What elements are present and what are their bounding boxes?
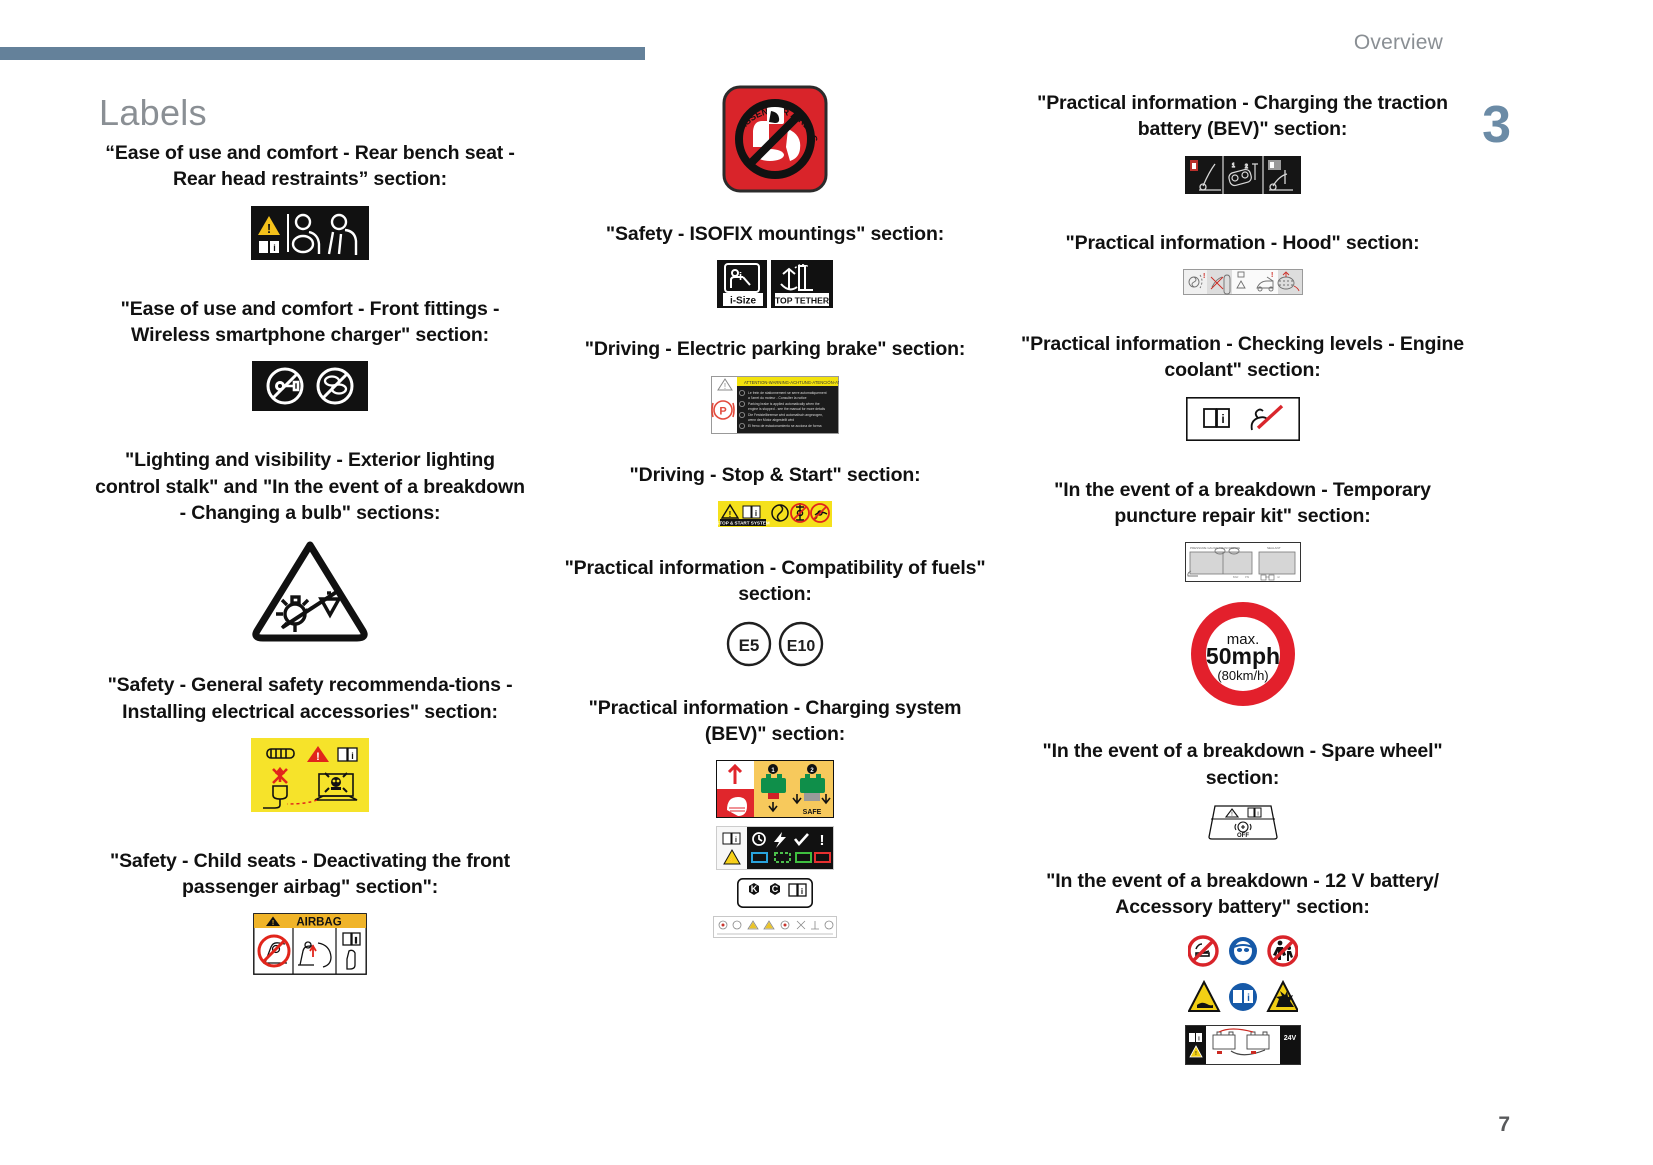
bev-plate-4 [560,916,990,938]
manual-book-blue-icon: i [1229,983,1257,1011]
svg-text:SEALANT: SEALANT [1267,546,1281,550]
svg-text:El freno de estacionamiento se: El freno de estacionamiento se acciona d… [748,424,822,428]
svg-text:Parking brake is applied autom: Parking brake is applied automatically w… [748,402,820,406]
passenger-airbag-label: ! AIRBAG [95,913,525,975]
header-accent-bar [0,47,645,60]
svg-text:a l'arret du moteur - Consulte: a l'arret du moteur - Consulter la notic… [748,396,807,400]
chapter-number: 3 [1482,95,1510,155]
electric-parking-brake-label: ! ATTENTION-WARNING-ACHTUNG-ATENCIÓN-ATT… [560,376,990,434]
page-title: Labels [99,92,207,134]
svg-text:STOP & START SYSTEM: STOP & START SYSTEM [718,521,770,526]
bev-plate-1: 1 2 [560,760,990,818]
bulb-warning-triangle-label [95,539,525,644]
rear-head-restraint-label: ! i [95,206,525,260]
caption: "Practical information - Checking levels… [1020,331,1465,384]
svg-text:i: i [355,938,357,945]
svg-text:K: K [751,884,758,894]
svg-text:i: i [351,751,354,761]
svg-text:ATTENTION-WARNING-ACHTUNG-ATEN: ATTENTION-WARNING-ACHTUNG-ATENCIÓN-ATTEN… [744,380,839,385]
puncture-repair-kit-label: PRESSURE GAUGE / MANOMETRE SEALANT BARPS… [1020,542,1465,582]
label-entry-rear-head-restraints: “Ease of use and comfort - Rear bench se… [95,140,525,260]
svg-text:!: ! [729,510,732,519]
caption: "Ease of use and comfort - Front fitting… [95,296,525,349]
label-entry-passenger-airbag: "Safety - Child seats - Deactivating the… [95,848,525,976]
svg-text:24V: 24V [1283,1035,1296,1042]
svg-text:1: 1 [1232,163,1235,169]
hood-label: ! [1020,269,1465,295]
svg-text:⚡: ⚡ [728,856,735,864]
svg-text:TOP TETHER: TOP TETHER [775,296,830,306]
traction-battery-charging-label: 1 2 [1020,156,1465,194]
svg-text:SAFE: SAFE [803,809,822,816]
label-entry-wireless-charger: "Ease of use and comfort - Front fitting… [95,296,525,412]
eye-protection-icon [1229,937,1257,965]
svg-text:!: ! [267,221,271,236]
column-mid: PASSENGER AIRBAG "S [560,85,990,944]
svg-text:i-Size: i-Size [730,296,757,307]
svg-text:!: ! [724,382,726,391]
spare-wheel-label: ! i OFF [1020,804,1465,840]
svg-text:E5: E5 [739,636,760,655]
svg-text:wenn der Motor abgestellt wird: wenn der Motor abgestellt wird [748,418,794,422]
svg-text:!: ! [316,751,320,763]
label-entry-fuel-compatibility: "Practical information - Compatibility o… [560,555,990,667]
label-entry-battery-12v: "In the event of a breakdown - 12 V batt… [1020,868,1465,1066]
label-entry-electrical-accessories: "Safety - General safety recommenda-tion… [95,672,525,812]
svg-text:BAR: BAR [1233,575,1238,579]
svg-text:i: i [1221,412,1224,426]
fuel-compatibility-label: E5 E10 [560,621,990,667]
svg-text:!: ! [1203,273,1205,280]
caption: "Safety - Child seats - Deactivating the… [95,848,525,901]
label-entry-isofix: "Safety - ISOFIX mountings" section: i i… [560,221,990,308]
explosion-warning-icon [1268,982,1298,1011]
label-entry-hood: "Practical information - Hood" section: … [1020,230,1465,295]
caption: “Ease of use and comfort - Rear bench se… [95,140,525,193]
label-entry-bulb-change: "Lighting and visibility - Exterior ligh… [95,447,525,644]
caption: "Driving - Electric parking brake" secti… [560,336,990,362]
svg-text:ml: ml [1277,575,1280,579]
svg-text:PSI: PSI [1245,575,1249,579]
label-entry-passenger-airbag-sticker: PASSENGER AIRBAG [560,85,990,193]
passenger-airbag-round-sticker: PASSENGER AIRBAG [560,85,990,193]
caption: "Practical information - Charging system… [560,695,990,748]
isofix-label: i i-Size TOP TETHER [560,260,990,308]
svg-text:AIRBAG: AIRBAG [296,917,341,929]
svg-text:OFF: OFF [1237,833,1249,839]
no-children-icon [1269,937,1297,965]
svg-text:Le frein de stationnement se s: Le frein de stationnement se serre autom… [748,391,827,395]
caption: "Driving - Stop & Start" section: [560,462,990,488]
electrical-accessories-label: ! i [95,738,525,812]
caption: "In the event of a breakdown - 12 V batt… [1020,868,1465,921]
caption: "Safety - General safety recommenda-tion… [95,672,525,725]
svg-text:50mph: 50mph [1205,643,1279,669]
battery-12v-jump-start-plate: i ! 24V [1020,1025,1465,1065]
svg-text:i: i [735,837,737,844]
svg-text:E10: E10 [787,638,816,655]
label-entry-charging-system-bev: "Practical information - Charging system… [560,695,990,939]
svg-text:i: i [273,243,276,253]
svg-text:2: 2 [1245,164,1248,170]
svg-text:!: ! [820,832,825,849]
svg-text:i: i [755,509,757,518]
label-entry-stop-start: "Driving - Stop & Start" section: ! i ST… [560,462,990,527]
label-entry-puncture-repair-kit: "In the event of a breakdown - Temporary… [1020,477,1465,711]
page-number: 7 [1498,1113,1510,1137]
svg-text:i: i [801,887,803,896]
svg-text:!: ! [1271,272,1273,279]
svg-text:engine is stopped - see the ma: engine is stopped - see the manual for m… [748,407,825,411]
bev-plate-3: K C i [560,878,990,908]
caption: "Lighting and visibility - Exterior ligh… [95,447,525,526]
column-left: “Ease of use and comfort - Rear bench se… [95,140,525,981]
caption: "In the event of a breakdown - Temporary… [1020,477,1465,530]
svg-text:i: i [1257,811,1258,817]
svg-text:i: i [739,271,742,283]
caption: "Practical information - Charging the tr… [1020,90,1465,143]
battery-12v-row-2: i [1020,979,1465,1015]
label-entry-electric-parking-brake: "Driving - Electric parking brake" secti… [560,336,990,433]
caption: "Practical information - Compatibility o… [560,555,990,608]
svg-text:(80km/h): (80km/h) [1217,668,1268,683]
battery-12v-row-1 [1020,933,1465,969]
label-entry-spare-wheel: "In the event of a breakdown - Spare whe… [1020,738,1465,840]
header-title: Overview [1354,31,1443,55]
stop-start-label: ! i STOP & START SYSTEM [560,501,990,527]
no-flame-smoking-icon [1189,937,1217,965]
caption: "Safety - ISOFIX mountings" section: [560,221,990,247]
svg-text:C: C [772,884,779,894]
wireless-charger-label [95,361,525,411]
bev-plate-2: i ⚡ ! [560,826,990,870]
svg-text:P: P [719,405,726,417]
svg-text:Die Feststellbremse wird autom: Die Feststellbremse wird automatisch ang… [748,413,823,417]
label-entry-engine-coolant: "Practical information - Checking levels… [1020,331,1465,441]
svg-text:i: i [1247,993,1250,1004]
label-entry-traction-battery-charging: "Practical information - Charging the tr… [1020,90,1465,194]
acid-warning-icon [1189,982,1219,1011]
caption: "In the event of a breakdown - Spare whe… [1020,738,1465,791]
caption: "Practical information - Hood" section: [1020,230,1465,256]
svg-text:!: ! [272,920,274,927]
speed-limit-sticker: max. 50mph (80km/h) [1020,598,1465,710]
engine-coolant-label: i [1020,397,1465,441]
column-right: "Practical information - Charging the tr… [1020,90,1465,1071]
